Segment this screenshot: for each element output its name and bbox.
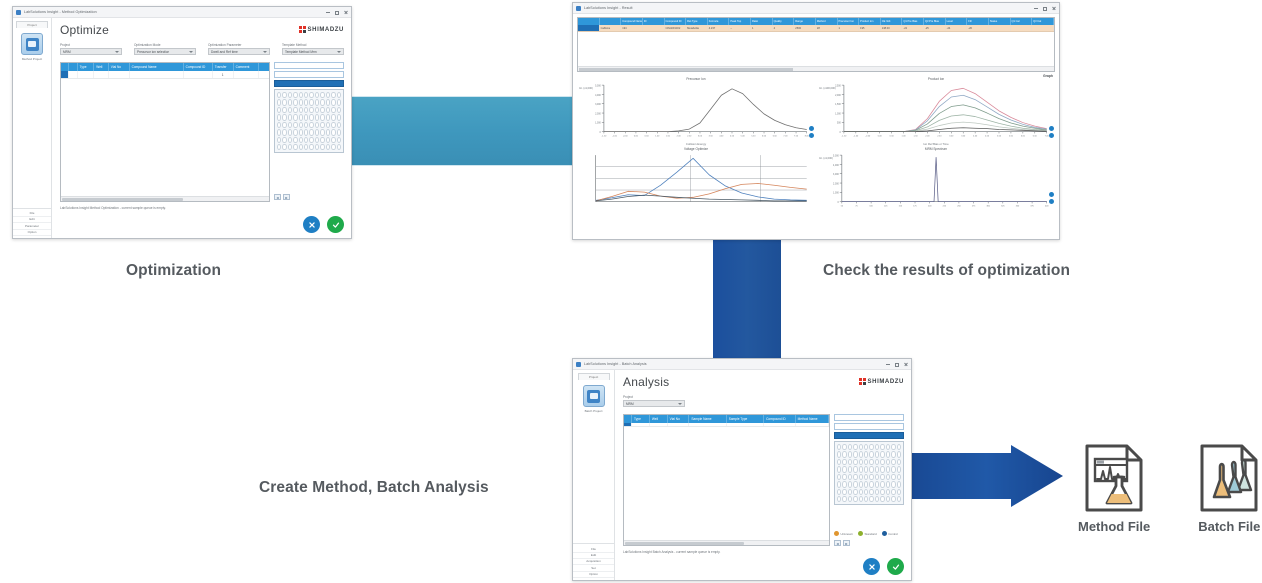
well[interactable] <box>891 444 895 450</box>
well[interactable] <box>837 451 841 457</box>
well[interactable] <box>337 99 341 105</box>
table-header-cell[interactable] <box>600 18 622 25</box>
field-template-method[interactable]: Template Method Template Method Mrm <box>282 43 344 55</box>
well[interactable] <box>891 481 895 487</box>
well[interactable] <box>859 474 863 480</box>
well[interactable] <box>859 466 863 472</box>
well[interactable] <box>837 481 841 487</box>
well[interactable] <box>277 122 281 128</box>
row-selector[interactable] <box>578 25 600 31</box>
well[interactable] <box>309 144 313 150</box>
table-header-cell[interactable] <box>61 63 69 71</box>
sample-table-optimize[interactable]: Type Well Vial No Compound Name Compound… <box>60 62 270 202</box>
well[interactable] <box>315 137 319 143</box>
well[interactable] <box>299 114 303 120</box>
side-bar-slot[interactable] <box>834 414 904 421</box>
well[interactable] <box>293 137 297 143</box>
well[interactable] <box>282 92 286 98</box>
well[interactable] <box>886 481 890 487</box>
table-header-cell[interactable]: Sample Name <box>689 415 726 423</box>
well[interactable] <box>875 466 879 472</box>
table-cell[interactable]: 2500 <box>794 25 816 31</box>
table-cell[interactable]: 1 <box>213 71 234 78</box>
cancel-button[interactable] <box>863 558 880 575</box>
well[interactable] <box>864 489 868 495</box>
well[interactable] <box>848 496 852 502</box>
field-optimization-mode[interactable]: Optimization Mode Precursor ion selectio… <box>134 43 196 55</box>
well[interactable] <box>853 466 857 472</box>
table-cell[interactable] <box>989 25 1011 31</box>
well[interactable] <box>897 496 901 502</box>
well[interactable] <box>299 137 303 143</box>
well[interactable] <box>315 129 319 135</box>
well[interactable] <box>331 92 335 98</box>
well[interactable] <box>337 129 341 135</box>
well[interactable] <box>293 92 297 98</box>
well[interactable] <box>880 451 884 457</box>
table-cell[interactable] <box>668 423 690 426</box>
well[interactable] <box>304 137 308 143</box>
well[interactable] <box>331 99 335 105</box>
table-cell[interactable]: 4 <box>773 25 795 31</box>
well[interactable] <box>320 122 324 128</box>
well[interactable] <box>842 444 846 450</box>
well[interactable] <box>880 481 884 487</box>
well[interactable] <box>331 144 335 150</box>
table-row[interactable]: Caffeine194C8H10N4O2Metabolite4.237--142… <box>578 25 1054 32</box>
side-bar-selected[interactable] <box>274 80 344 87</box>
well[interactable] <box>853 451 857 457</box>
method-project-icon[interactable] <box>583 385 605 407</box>
well[interactable] <box>282 114 286 120</box>
well[interactable] <box>842 496 846 502</box>
chevron-down-icon[interactable] <box>115 51 119 53</box>
well[interactable] <box>897 459 901 465</box>
well-plate-grid[interactable] <box>834 441 904 505</box>
table-header-cell[interactable]: Vial No <box>109 63 130 71</box>
maximize-icon[interactable] <box>335 11 339 15</box>
table-horizontal-scrollbar[interactable] <box>578 66 1054 71</box>
table-header-cell[interactable]: Quality <box>773 18 795 25</box>
well[interactable] <box>309 92 313 98</box>
well[interactable] <box>848 466 852 472</box>
table-header-cell[interactable]: Fill <box>967 18 989 25</box>
well[interactable] <box>886 459 890 465</box>
well[interactable] <box>288 129 292 135</box>
well[interactable] <box>886 474 890 480</box>
well[interactable] <box>848 444 852 450</box>
well[interactable] <box>326 129 330 135</box>
chart-zoom-controls[interactable] <box>809 126 814 138</box>
well[interactable] <box>864 466 868 472</box>
well[interactable] <box>315 107 319 113</box>
well[interactable] <box>288 122 292 128</box>
well[interactable] <box>315 114 319 120</box>
table-header-cell[interactable]: Type <box>632 415 650 423</box>
sidebar-rail-analysis[interactable]: Project Batch Project File Edit Acquisit… <box>573 370 615 580</box>
table-header-cell[interactable]: Range <box>794 18 816 25</box>
well[interactable] <box>299 107 303 113</box>
well[interactable] <box>859 459 863 465</box>
well[interactable] <box>309 129 313 135</box>
well[interactable] <box>842 489 846 495</box>
table-cell[interactable]: -22 <box>902 25 924 31</box>
cancel-button[interactable] <box>303 216 320 233</box>
minimize-icon[interactable] <box>1034 8 1038 9</box>
table-header-cell[interactable]: Compound ID <box>764 415 796 423</box>
well[interactable] <box>277 137 281 143</box>
plate-prev-button[interactable]: ◄ <box>274 194 281 200</box>
well[interactable] <box>331 114 335 120</box>
well-plate-grid[interactable] <box>274 89 344 153</box>
table-cell[interactable]: 194 <box>621 25 643 31</box>
well[interactable] <box>875 444 879 450</box>
window-results[interactable]: LabSolutions Insight - Result Compound N… <box>572 2 1060 240</box>
well[interactable] <box>837 489 841 495</box>
well[interactable] <box>277 99 281 105</box>
well[interactable] <box>282 122 286 128</box>
well[interactable] <box>304 144 308 150</box>
table-header-cell[interactable]: Ratio <box>751 18 773 25</box>
table-cell[interactable]: 195 <box>859 25 881 31</box>
well[interactable] <box>869 474 873 480</box>
method-project-icon[interactable] <box>21 33 43 55</box>
side-bar-slot[interactable] <box>274 62 344 69</box>
field-project[interactable]: Project MRM <box>60 43 122 55</box>
well[interactable] <box>320 137 324 143</box>
table-horizontal-scrollbar[interactable] <box>61 196 269 201</box>
well[interactable] <box>848 489 852 495</box>
table-cell[interactable]: -20 <box>967 25 989 31</box>
row-selector[interactable] <box>624 423 632 426</box>
window-optimize[interactable]: LabSolutions Insight - Method Optimizati… <box>12 6 352 239</box>
well[interactable] <box>875 474 879 480</box>
chart-zoom-controls[interactable] <box>1049 192 1054 204</box>
table-header-cell[interactable]: Compound Name <box>621 18 643 25</box>
well[interactable] <box>891 459 895 465</box>
well[interactable] <box>326 144 330 150</box>
well[interactable] <box>886 496 890 502</box>
chart-mrm-spectrum[interactable]: MRM Spectrum Int. (x1,000) 5,0004,0003,0… <box>817 148 1055 212</box>
well[interactable] <box>880 466 884 472</box>
well[interactable] <box>869 444 873 450</box>
table-header-cell[interactable]: Well <box>94 63 109 71</box>
well[interactable] <box>864 451 868 457</box>
table-header-cell[interactable]: Compound ID <box>665 18 687 25</box>
well[interactable] <box>891 489 895 495</box>
well[interactable] <box>331 107 335 113</box>
table-cell[interactable] <box>796 423 829 426</box>
table-header-cell[interactable]: Level <box>946 18 968 25</box>
well[interactable] <box>277 144 281 150</box>
well[interactable] <box>842 474 846 480</box>
well[interactable] <box>282 137 286 143</box>
well[interactable] <box>299 99 303 105</box>
well[interactable] <box>288 99 292 105</box>
well[interactable] <box>897 466 901 472</box>
well[interactable] <box>837 444 841 450</box>
well[interactable] <box>853 444 857 450</box>
chart-precursor-ion[interactable]: Precursor Ion Int. (x1,000) 5,0004,0003,… <box>577 78 815 146</box>
table-row[interactable]: 1 <box>61 71 269 79</box>
rail-tab-project[interactable]: Project <box>578 373 610 380</box>
window-analysis[interactable]: LabSolutions Insight - Batch Analysis Pr… <box>572 358 912 581</box>
well[interactable] <box>859 444 863 450</box>
rail-footer-menu[interactable]: File Edit Parameter Option <box>13 208 51 238</box>
maximize-icon[interactable] <box>1043 7 1047 11</box>
well[interactable] <box>337 92 341 98</box>
row-selector[interactable] <box>61 71 69 78</box>
well[interactable] <box>891 451 895 457</box>
well[interactable] <box>853 459 857 465</box>
well[interactable] <box>880 459 884 465</box>
well[interactable] <box>282 144 286 150</box>
field-optimization-parameter[interactable]: Optimization Parameter Dwell and Ref tim… <box>208 43 270 55</box>
table-cell[interactable]: Metabolite <box>686 25 708 31</box>
well[interactable] <box>875 481 879 487</box>
well[interactable] <box>288 137 292 143</box>
plate-pager[interactable]: ◄ ► <box>834 540 904 546</box>
table-cell[interactable]: Caffeine <box>600 25 622 31</box>
chevron-down-icon[interactable] <box>263 51 267 53</box>
well[interactable] <box>875 459 879 465</box>
well[interactable] <box>293 122 297 128</box>
output-method-file[interactable]: Method File <box>1078 443 1150 534</box>
table-cell[interactable]: 1 <box>751 25 773 31</box>
well[interactable] <box>842 459 846 465</box>
plate-pager[interactable]: ◄ ► <box>274 194 344 200</box>
well[interactable] <box>288 144 292 150</box>
well[interactable] <box>320 107 324 113</box>
action-buttons-analysis[interactable] <box>863 558 904 575</box>
well[interactable] <box>853 489 857 495</box>
well[interactable] <box>897 451 901 457</box>
table-header-cell[interactable]: Comment <box>234 63 259 71</box>
well[interactable] <box>886 444 890 450</box>
well[interactable] <box>864 459 868 465</box>
table-header-cell[interactable]: Formula <box>708 18 730 25</box>
well[interactable] <box>288 114 292 120</box>
table-header-cell[interactable]: Type <box>78 63 95 71</box>
table-header-cell[interactable] <box>69 63 77 71</box>
table-cell[interactable]: -24 <box>946 25 968 31</box>
table-header-cell[interactable]: ID <box>643 18 665 25</box>
table-cell[interactable] <box>69 71 77 78</box>
well[interactable] <box>293 99 297 105</box>
well[interactable] <box>299 122 303 128</box>
well[interactable] <box>864 444 868 450</box>
table-cell[interactable]: C8H10N4O2 <box>665 25 687 31</box>
table-cell[interactable] <box>234 71 259 78</box>
table-cell[interactable]: 1 <box>838 25 860 31</box>
well[interactable] <box>859 489 863 495</box>
well[interactable] <box>282 99 286 105</box>
well[interactable] <box>897 481 901 487</box>
table-header-cell[interactable]: Sample Type <box>727 415 764 423</box>
well[interactable] <box>337 144 341 150</box>
well[interactable] <box>315 92 319 98</box>
well[interactable] <box>880 444 884 450</box>
table-cell[interactable] <box>689 423 726 426</box>
close-icon[interactable] <box>344 11 348 15</box>
well[interactable] <box>288 107 292 113</box>
window-controls[interactable] <box>1034 3 1056 14</box>
side-bar-selected[interactable] <box>834 432 904 439</box>
well[interactable] <box>277 114 281 120</box>
table-header-cell[interactable]: Q3 Cal <box>1032 18 1054 25</box>
well[interactable] <box>304 122 308 128</box>
rail-footer-menu[interactable]: File Edit Acquisition Set Option <box>573 543 614 580</box>
well[interactable] <box>853 474 857 480</box>
output-batch-file[interactable]: Batch File <box>1198 443 1260 534</box>
chart-voltage-optimize[interactable]: Voltage Optimize <box>577 148 815 212</box>
well[interactable] <box>875 496 879 502</box>
well[interactable] <box>277 92 281 98</box>
well[interactable] <box>304 92 308 98</box>
minimize-icon[interactable] <box>326 12 330 13</box>
table-header-cell[interactable]: Method <box>816 18 838 25</box>
well[interactable] <box>880 496 884 502</box>
well[interactable] <box>859 451 863 457</box>
close-icon[interactable] <box>904 363 908 367</box>
table-cell[interactable] <box>109 71 130 78</box>
well[interactable] <box>869 451 873 457</box>
chevron-down-icon[interactable] <box>337 51 341 53</box>
sample-table-analysis[interactable]: Type Well Vial No Sample Name Sample Typ… <box>623 414 830 546</box>
chart-zoom-controls[interactable] <box>1049 126 1054 138</box>
well[interactable] <box>848 481 852 487</box>
well[interactable] <box>299 92 303 98</box>
well[interactable] <box>304 129 308 135</box>
well[interactable] <box>337 137 341 143</box>
well[interactable] <box>277 129 281 135</box>
well[interactable] <box>864 496 868 502</box>
close-icon[interactable] <box>1052 7 1056 11</box>
ok-button[interactable] <box>887 558 904 575</box>
well[interactable] <box>282 107 286 113</box>
table-cell[interactable] <box>650 423 668 426</box>
well[interactable] <box>326 107 330 113</box>
table-cell[interactable]: -25 <box>924 25 946 31</box>
well[interactable] <box>337 114 341 120</box>
well[interactable] <box>880 474 884 480</box>
results-table[interactable]: Compound NameIDCompound IDRet.TypeFormul… <box>577 17 1055 72</box>
well[interactable] <box>869 459 873 465</box>
well[interactable] <box>337 122 341 128</box>
well[interactable] <box>875 451 879 457</box>
well[interactable] <box>326 114 330 120</box>
well[interactable] <box>337 107 341 113</box>
well[interactable] <box>277 107 281 113</box>
table-cell[interactable] <box>78 71 95 78</box>
well[interactable] <box>293 114 297 120</box>
well[interactable] <box>331 129 335 135</box>
well[interactable] <box>842 481 846 487</box>
well[interactable] <box>897 489 901 495</box>
well[interactable] <box>859 481 863 487</box>
plate-prev-button[interactable]: ◄ <box>834 540 841 546</box>
well[interactable] <box>293 144 297 150</box>
table-header-cell[interactable]: Compound Name <box>130 63 184 71</box>
well[interactable] <box>315 144 319 150</box>
plate-next-button[interactable]: ► <box>283 194 290 200</box>
well[interactable] <box>886 466 890 472</box>
well[interactable] <box>875 489 879 495</box>
table-header-cell[interactable]: Method Name <box>796 415 829 423</box>
action-buttons-optimize[interactable] <box>303 216 344 233</box>
well[interactable] <box>853 496 857 502</box>
well[interactable] <box>837 496 841 502</box>
well[interactable] <box>326 122 330 128</box>
minimize-icon[interactable] <box>886 364 890 365</box>
well[interactable] <box>293 107 297 113</box>
well[interactable] <box>897 474 901 480</box>
table-cell[interactable] <box>643 25 665 31</box>
well[interactable] <box>897 444 901 450</box>
table-cell[interactable]: 28 <box>816 25 838 31</box>
table-header-cell[interactable]: Product Ion <box>859 18 881 25</box>
well[interactable] <box>326 99 330 105</box>
well[interactable] <box>282 129 286 135</box>
well[interactable] <box>848 451 852 457</box>
well[interactable] <box>837 459 841 465</box>
well[interactable] <box>842 451 846 457</box>
well[interactable] <box>315 122 319 128</box>
table-cell[interactable] <box>727 423 764 426</box>
well[interactable] <box>309 107 313 113</box>
table-cell[interactable] <box>1011 25 1033 31</box>
well[interactable] <box>326 92 330 98</box>
well[interactable] <box>853 481 857 487</box>
table-header-cell[interactable]: Status <box>989 18 1011 25</box>
table-cell[interactable] <box>764 423 796 426</box>
well[interactable] <box>886 451 890 457</box>
ok-button[interactable] <box>327 216 344 233</box>
well[interactable] <box>320 92 324 98</box>
well[interactable] <box>309 122 313 128</box>
window-controls[interactable] <box>326 7 348 18</box>
table-header-cell[interactable] <box>578 18 600 25</box>
rail-tab-project[interactable]: Project <box>16 21 48 28</box>
table-header-cell[interactable]: CE Volt <box>881 18 903 25</box>
rail-footer-item[interactable]: Option <box>13 230 51 236</box>
well[interactable] <box>848 474 852 480</box>
chevron-down-icon[interactable] <box>678 403 682 405</box>
well[interactable] <box>891 466 895 472</box>
well[interactable] <box>331 137 335 143</box>
table-header-cell[interactable] <box>624 415 632 423</box>
well[interactable] <box>848 459 852 465</box>
well[interactable] <box>869 466 873 472</box>
well[interactable] <box>293 129 297 135</box>
well[interactable] <box>299 144 303 150</box>
well[interactable] <box>886 489 890 495</box>
well[interactable] <box>880 489 884 495</box>
well[interactable] <box>837 474 841 480</box>
well[interactable] <box>869 496 873 502</box>
plate-next-button[interactable]: ► <box>843 540 850 546</box>
table-header-cell[interactable]: Compound ID <box>184 63 213 71</box>
side-bar-slot[interactable] <box>274 71 344 78</box>
maximize-icon[interactable] <box>895 363 899 367</box>
table-header-cell[interactable]: Peak Top <box>729 18 751 25</box>
well[interactable] <box>837 466 841 472</box>
well[interactable] <box>315 99 319 105</box>
table-cell[interactable] <box>632 423 650 426</box>
field-project[interactable]: Project MRM <box>623 395 685 407</box>
well[interactable] <box>309 114 313 120</box>
table-header-cell[interactable]: Q1 Pre Bias <box>902 18 924 25</box>
